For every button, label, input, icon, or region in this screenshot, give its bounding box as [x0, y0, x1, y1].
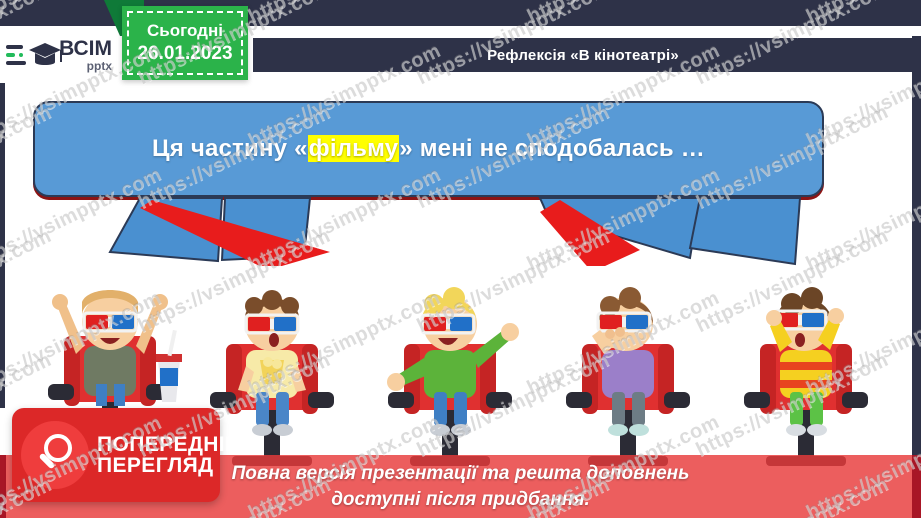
date-badge-label: Сьогодні — [147, 21, 223, 42]
brand-logo: ВСІМ pptx — [0, 26, 112, 83]
speed-lines-icon — [6, 39, 26, 71]
logo-suffix-text: pptx — [59, 60, 112, 72]
preview-badge-line2: ПЕРЕГЛЯД — [97, 455, 241, 476]
preview-badge-line1: ПОПЕРЕДНІЙ — [97, 434, 241, 455]
statement-highlight: фільму — [308, 135, 400, 162]
statement-banner-text: Ця частину «фільму» мені не сподобалась … — [152, 135, 705, 163]
band-left-edge — [0, 455, 6, 518]
kid-4 — [566, 287, 690, 466]
magnifier-icon — [21, 421, 89, 489]
date-badge-value: 26.01.2023 — [137, 42, 232, 65]
band-right-edge — [912, 455, 921, 518]
statement-text-before: Ця частину « — [152, 135, 308, 162]
slide-header-bar: Рефлексія «В кінотеатрі» — [253, 38, 913, 72]
presentation-slide: ВСІМ pptx Сьогодні 26.01.2023 Рефлексія … — [0, 0, 921, 518]
graduation-cap-icon — [27, 38, 55, 72]
page-title: Рефлексія «В кінотеатрі» — [487, 47, 679, 64]
date-badge: Сьогодні 26.01.2023 — [122, 6, 248, 80]
statement-text-after: » мені не сподобалась … — [399, 135, 705, 162]
logo-brand-text: ВСІМ — [59, 38, 112, 59]
kid-5 — [744, 287, 868, 466]
preview-badge[interactable]: ПОПЕРЕДНІЙ ПЕРЕГЛЯД — [12, 408, 220, 502]
preview-badge-labels: ПОПЕРЕДНІЙ ПЕРЕГЛЯД — [97, 434, 241, 477]
banner-tail-shapes — [0, 186, 921, 266]
statement-banner: Ця частину «фільму» мені не сподобалась … — [33, 101, 824, 197]
kid-3 — [387, 287, 519, 466]
